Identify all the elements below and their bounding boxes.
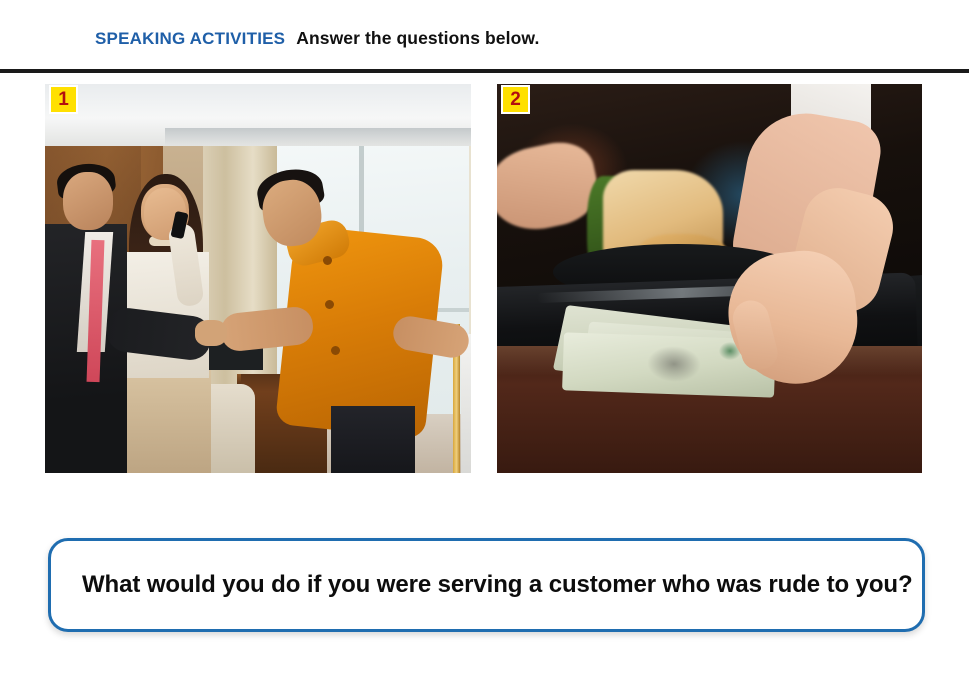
photo-1-image <box>45 84 471 473</box>
photo-badge-2: 2 <box>501 85 530 114</box>
page-instruction: Answer the questions below. <box>296 28 539 49</box>
question-box: What would you do if you were serving a … <box>48 538 925 632</box>
photo-row: 1 <box>0 84 969 473</box>
page-header: SPEAKING ACTIVITIES Answer the questions… <box>0 0 969 69</box>
header-divider <box>0 69 969 73</box>
question-text: What would you do if you were serving a … <box>82 571 913 599</box>
section-kicker: SPEAKING ACTIVITIES <box>95 29 285 49</box>
photo-badge-1: 1 <box>49 85 78 114</box>
photo-card-2[interactable]: 2 <box>497 84 922 473</box>
photo-2-image <box>497 84 922 473</box>
photo-card-1[interactable]: 1 <box>45 84 471 473</box>
header-title-group: SPEAKING ACTIVITIES Answer the questions… <box>95 28 539 49</box>
